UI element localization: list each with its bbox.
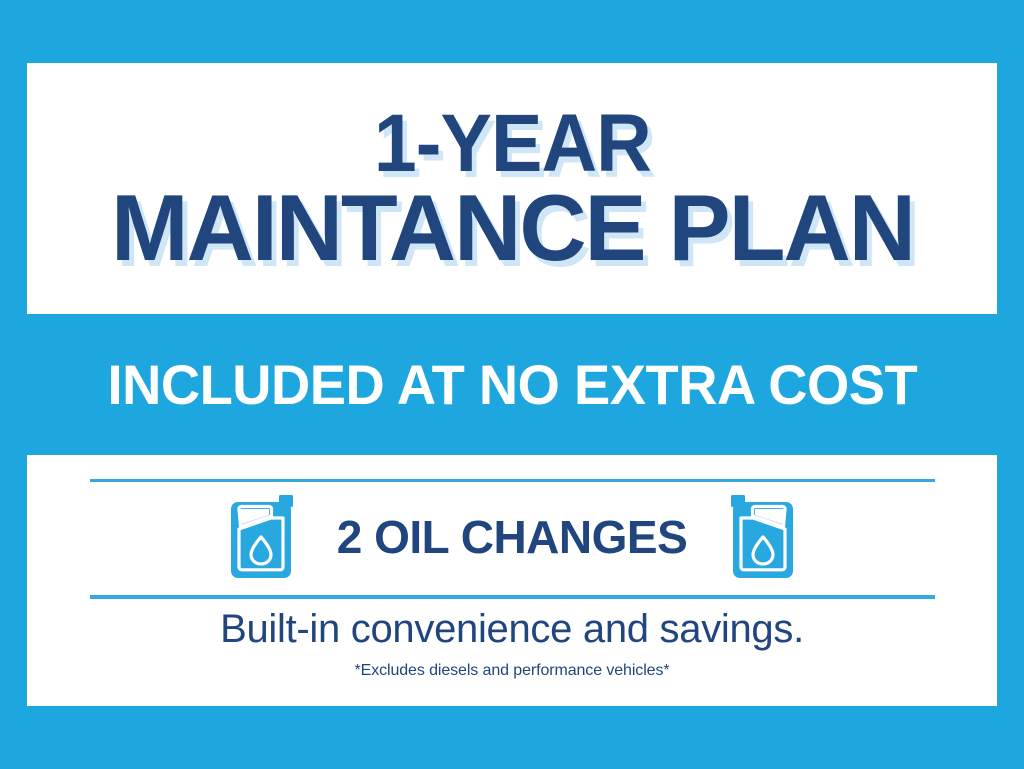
oil-can-icon-left — [227, 493, 301, 581]
divider-bottom — [90, 595, 935, 599]
oil-can-icon-right — [723, 493, 797, 581]
fineprint-text: *Excludes diesels and performance vehicl… — [27, 662, 997, 680]
benefit-label: 2 OIL CHANGES — [337, 510, 688, 564]
headline-line-2: MAINTANCE PLAN — [111, 185, 914, 271]
promo-poster: 1-YEAR MAINTANCE PLAN INCLUDED AT NO EXT… — [0, 0, 1024, 769]
detail-card: 2 OIL CHANGES Built-in convenience and s… — [27, 455, 997, 706]
benefit-row: 2 OIL CHANGES — [27, 479, 997, 595]
tagline-text: Built-in convenience and savings. — [27, 607, 997, 652]
headline-card: 1-YEAR MAINTANCE PLAN — [27, 63, 997, 314]
headline-line-1: 1-YEAR — [373, 106, 650, 181]
subheading-band: INCLUDED AT NO EXTRA COST — [0, 314, 1024, 455]
subheading-text: INCLUDED AT NO EXTRA COST — [107, 352, 917, 417]
